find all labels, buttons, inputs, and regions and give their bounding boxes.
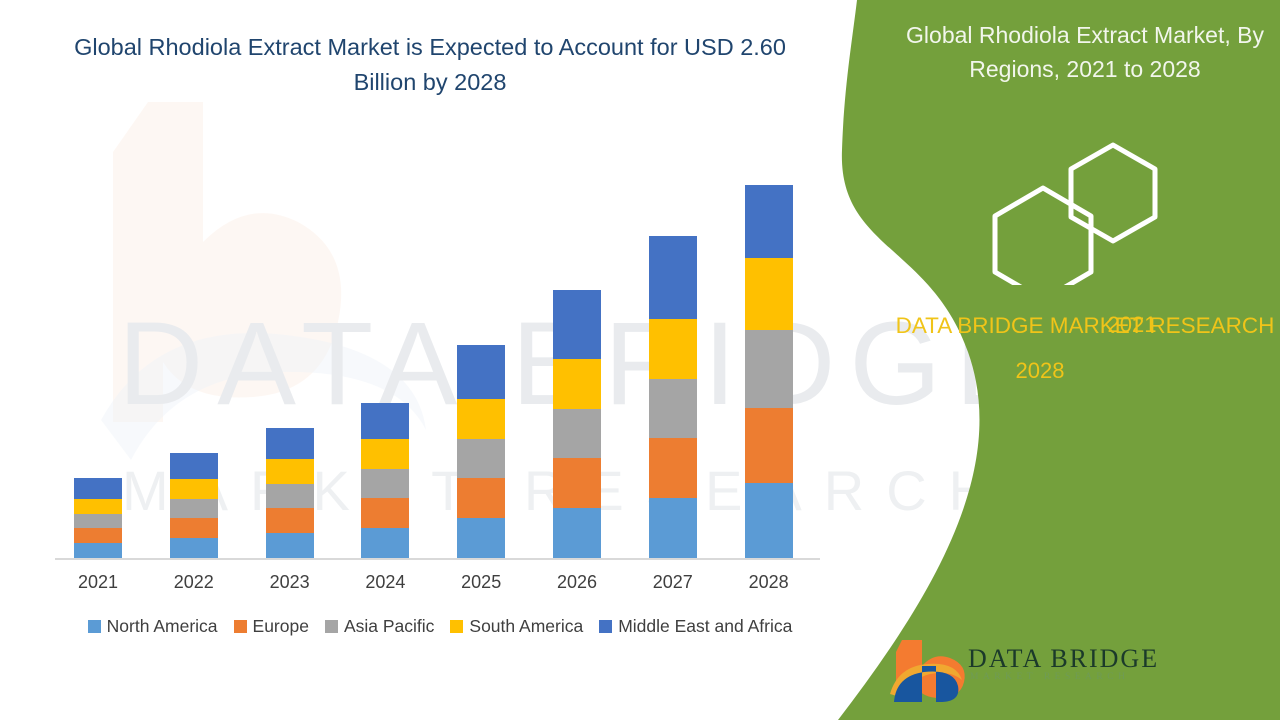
bar-segment-europe-2027 [649,438,697,498]
bar-segment-europe-2026 [553,458,601,508]
legend-swatch-icon [88,620,101,633]
bar-segment-asia-pacific-2028 [745,330,793,408]
bar-2022 [170,0,218,558]
bar-segment-middle-east-and-africa-2022 [170,453,218,479]
bar-segment-middle-east-and-africa-2026 [553,290,601,359]
bar-segment-north-america-2024 [361,528,409,558]
legend-item-north-america[interactable]: North America [88,616,218,637]
infographic-canvas: DATA BRIDGE MARKET RESEARCH Global Rhodi… [0,0,1280,720]
bar-segment-south-america-2027 [649,319,697,379]
hexagon-2028-shape [995,188,1091,285]
bar-segment-asia-pacific-2023 [266,484,314,508]
legend-swatch-icon [325,620,338,633]
bar-segment-middle-east-and-africa-2027 [649,236,697,319]
legend-item-europe[interactable]: Europe [234,616,309,637]
bar-segment-middle-east-and-africa-2021 [74,478,122,499]
bar-segment-middle-east-and-africa-2028 [745,185,793,258]
bar-segment-europe-2021 [74,528,122,543]
bar-2027 [649,0,697,558]
x-axis-line [55,558,820,560]
legend-swatch-icon [599,620,612,633]
legend-label: Asia Pacific [344,616,434,637]
x-axis-label-2025: 2025 [433,572,529,593]
bar-segment-south-america-2022 [170,479,218,499]
legend-label: South America [469,616,583,637]
bar-segment-south-america-2023 [266,459,314,484]
bar-segment-south-america-2021 [74,499,122,514]
bar-segment-europe-2023 [266,508,314,533]
x-axis-labels: 20212022202320242025202620272028 [0,572,860,602]
bar-segment-asia-pacific-2026 [553,409,601,458]
bar-segment-south-america-2026 [553,359,601,409]
hexagon-pair: 2021 2028 [985,140,1185,285]
bar-segment-europe-2022 [170,518,218,538]
chart-plot-area: 20212022202320242025202620272028 [0,0,860,600]
legend-label: Middle East and Africa [618,616,792,637]
bar-2025 [457,0,505,558]
bar-2023 [266,0,314,558]
bar-segment-north-america-2021 [74,543,122,558]
legend-swatch-icon [234,620,247,633]
bar-2024 [361,0,409,558]
green-panel-content: Global Rhodiola Extract Market, By Regio… [900,0,1280,720]
bar-segment-north-america-2023 [266,533,314,558]
legend-item-asia-pacific[interactable]: Asia Pacific [325,616,434,637]
bar-segment-north-america-2027 [649,498,697,558]
bar-segment-asia-pacific-2025 [457,439,505,478]
bar-segment-europe-2024 [361,498,409,528]
bar-segment-middle-east-and-africa-2025 [457,345,505,399]
x-axis-label-2024: 2024 [337,572,433,593]
panel-brand-text: DATA BRIDGE MARKET RESEARCH [895,310,1275,342]
bar-segment-europe-2028 [745,408,793,483]
bar-segment-asia-pacific-2021 [74,514,122,528]
x-axis-label-2027: 2027 [625,572,721,593]
bar-segment-middle-east-and-africa-2023 [266,428,314,459]
legend-swatch-icon [450,620,463,633]
bar-segment-north-america-2025 [457,518,505,558]
legend-item-middle-east-and-africa[interactable]: Middle East and Africa [599,616,792,637]
bar-2021 [74,0,122,558]
hexagon-2021-shape [1071,145,1155,241]
logo-tagline: MARKET RESEARCH [970,672,1129,682]
bar-segment-south-america-2025 [457,399,505,439]
bar-segment-north-america-2028 [745,483,793,558]
bar-segment-middle-east-and-africa-2024 [361,403,409,439]
bar-segment-south-america-2024 [361,439,409,469]
logo-wordmark: DATA BRIDGE [968,644,1159,674]
panel-title: Global Rhodiola Extract Market, By Regio… [895,18,1275,86]
bar-2028 [745,0,793,558]
legend-label: North America [107,616,218,637]
x-axis-label-2022: 2022 [146,572,242,593]
chart-legend: North AmericaEuropeAsia PacificSouth Ame… [55,616,825,637]
bar-segment-south-america-2028 [745,258,793,330]
legend-label: Europe [253,616,309,637]
hexagon-2028-label: 2028 [995,358,1085,384]
bar-segment-asia-pacific-2022 [170,499,218,518]
bar-segment-asia-pacific-2024 [361,469,409,498]
bar-segment-europe-2025 [457,478,505,518]
x-axis-label-2028: 2028 [721,572,817,593]
x-axis-label-2021: 2021 [50,572,146,593]
legend-item-south-america[interactable]: South America [450,616,583,637]
bar-segment-north-america-2022 [170,538,218,558]
bar-segment-asia-pacific-2027 [649,379,697,438]
x-axis-label-2026: 2026 [529,572,625,593]
bar-segment-north-america-2026 [553,508,601,558]
bar-2026 [553,0,601,558]
x-axis-label-2023: 2023 [242,572,338,593]
hexagon-svg [985,140,1185,285]
